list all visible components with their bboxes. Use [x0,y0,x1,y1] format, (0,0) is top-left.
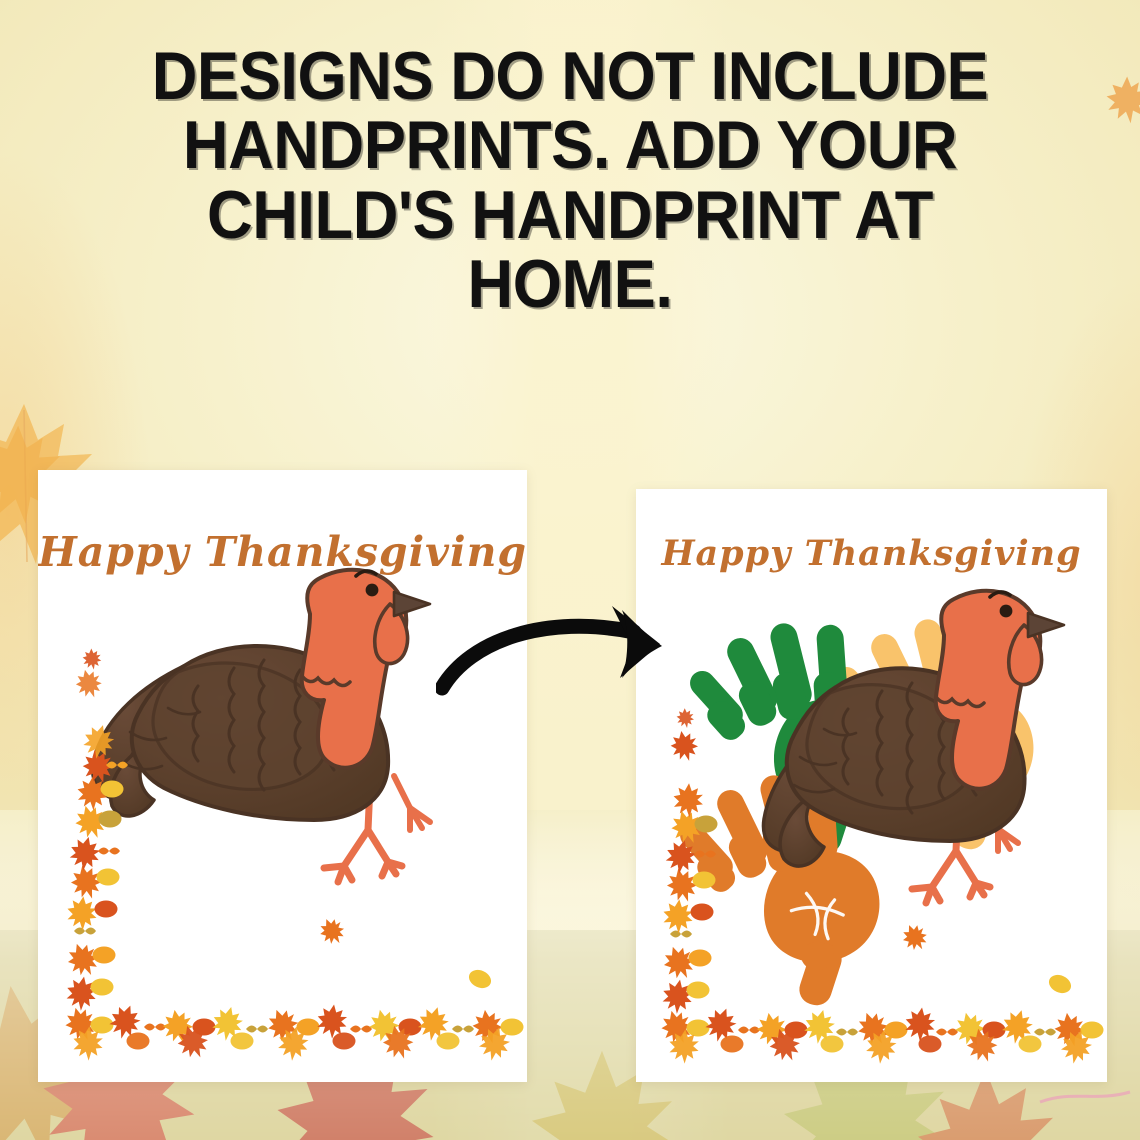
turkey-eye [1000,605,1013,618]
after-card[interactable]: Happy Thanksgiving [636,489,1107,1082]
headline-line-4: HOME. [88,250,1051,319]
before-card[interactable]: Happy Thanksgiving [38,470,527,1082]
turkey-illustration [93,570,430,882]
page-headline: DESIGNS DO NOT INCLUDE HANDPRINTS. ADD Y… [40,42,1100,319]
headline-line-3: CHILD'S HANDPRINT AT [88,181,1051,250]
headline-line-1: DESIGNS DO NOT INCLUDE [88,42,1051,111]
turkey-eye [366,584,379,597]
turkey-illustration [763,591,1064,903]
poster-canvas: DESIGNS DO NOT INCLUDE HANDPRINTS. ADD Y… [0,0,1140,1140]
card-left-artwork [38,470,527,1082]
curved-arrow-icon [436,596,726,716]
decorative-maple-leaf-topright [1106,74,1140,130]
card-right-artwork [636,489,1107,1082]
headline-line-2: HANDPRINTS. ADD YOUR [88,111,1051,180]
